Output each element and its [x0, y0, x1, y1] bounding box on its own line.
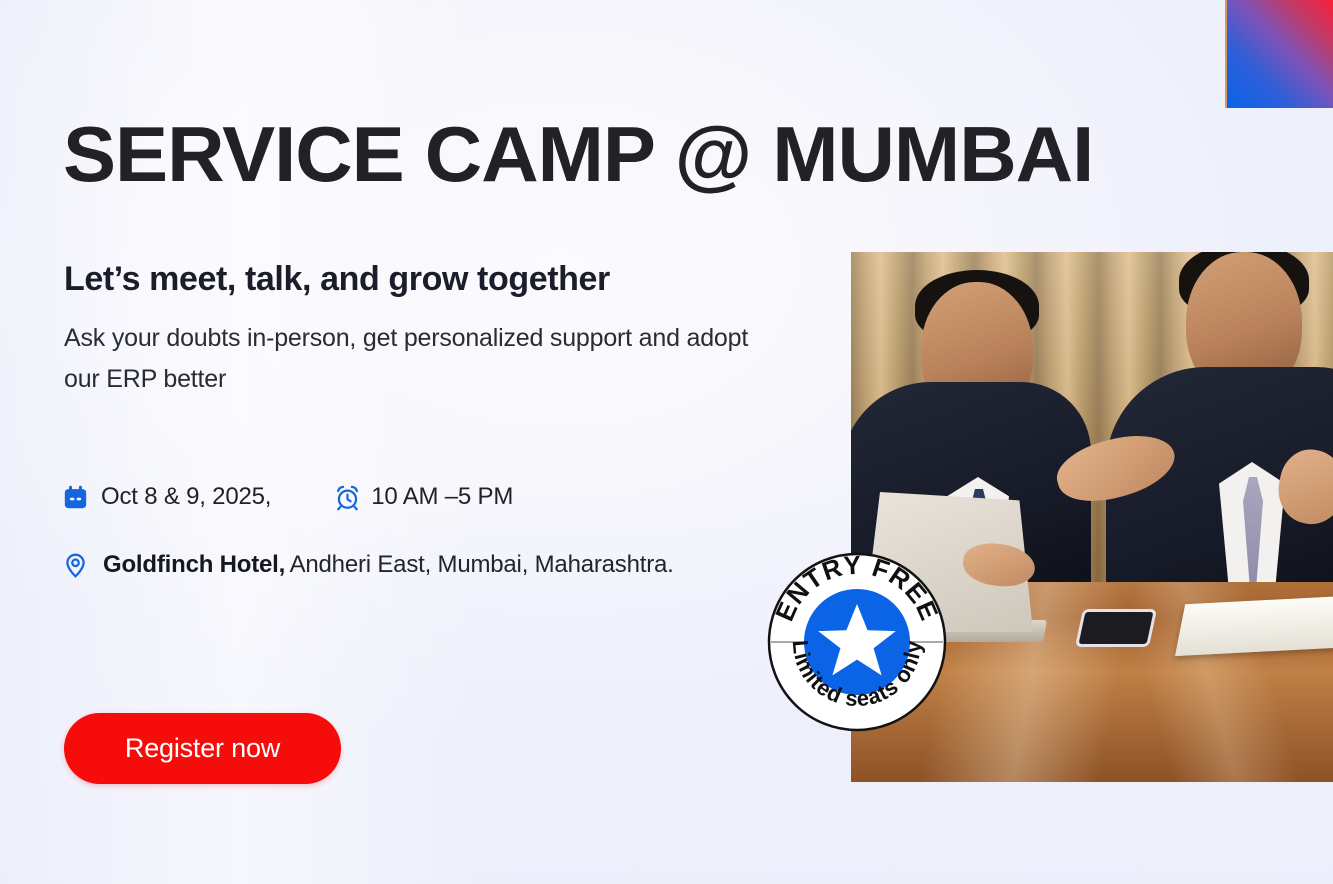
- event-date: Oct 8 & 9, 2025,: [101, 483, 271, 511]
- register-button[interactable]: Register now: [64, 713, 341, 784]
- location-pin-icon: [62, 552, 89, 579]
- event-date-time-row: Oct 8 & 9, 2025, 10 AM –5 PM: [62, 483, 513, 511]
- corner-gradient-block: [1225, 0, 1333, 108]
- event-time-group: 10 AM –5 PM: [334, 483, 513, 511]
- event-venue-row: Goldfinch Hotel, Andheri East, Mumbai, M…: [62, 548, 674, 582]
- alarm-clock-icon: [334, 484, 361, 511]
- event-time: 10 AM –5 PM: [371, 483, 513, 511]
- subheadline: Let’s meet, talk, and grow together: [64, 258, 610, 300]
- body-copy: Ask your doubts in-person, get personali…: [64, 318, 764, 400]
- promo-banner: SERVICE CAMP @ MUMBAI Let’s meet, talk, …: [0, 0, 1333, 884]
- venue-name: Goldfinch Hotel,: [103, 551, 285, 578]
- entry-free-badge: ENTRY FREE Limited seats only: [767, 552, 947, 732]
- documents-stack: [1175, 596, 1333, 656]
- page-title: SERVICE CAMP @ MUMBAI: [63, 110, 1093, 198]
- venue-address: Andheri East, Mumbai, Maharashtra.: [290, 551, 674, 578]
- calendar-icon: [62, 484, 89, 511]
- smartphone-icon: [1075, 609, 1157, 647]
- venue-text-group: Goldfinch Hotel, Andheri East, Mumbai, M…: [103, 548, 674, 582]
